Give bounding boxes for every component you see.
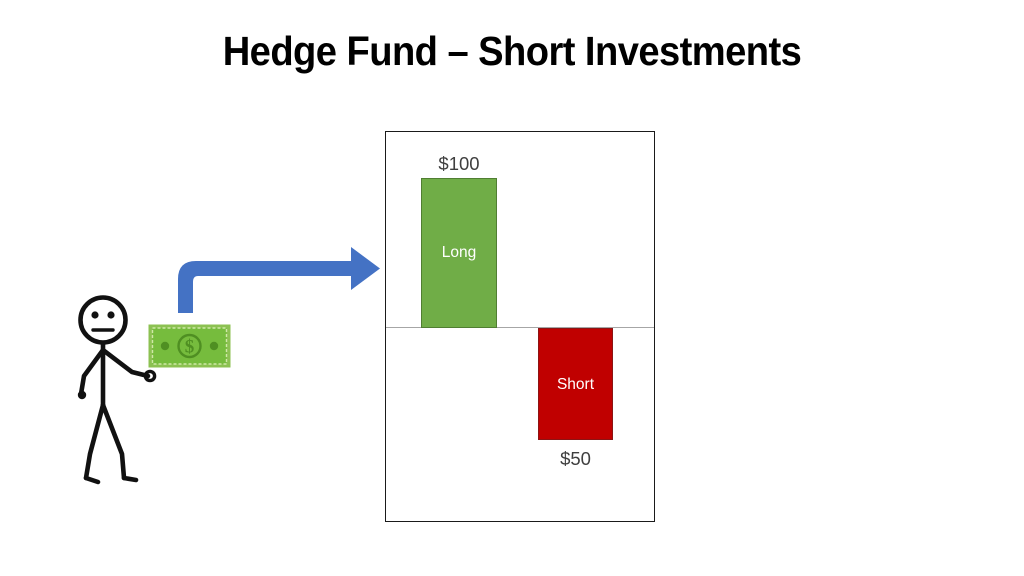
slide-canvas: Hedge Fund – Short Investments (0, 0, 1024, 576)
capital-flow-arrow (168, 243, 383, 315)
bill-dot-right (210, 342, 218, 350)
arrow-shape (178, 247, 380, 313)
dollar-sign-glyph: $ (185, 337, 195, 358)
long-short-bar-chart: $100 Long Short $50 (385, 131, 655, 522)
bar-long[interactable]: Long (421, 178, 497, 328)
stick-figure-eye-right (107, 311, 114, 318)
long-value-label: $100 (421, 153, 497, 175)
dollar-bill-icon: $ (148, 324, 231, 368)
money-icon: $ (148, 324, 231, 368)
short-value-label: $50 (538, 448, 613, 470)
chart-plot-area: $100 Long Short $50 (386, 132, 654, 521)
page-title: Hedge Fund – Short Investments (36, 26, 988, 76)
bar-short[interactable]: Short (538, 328, 613, 440)
bar-long-label: Long (422, 244, 496, 262)
stick-figure-eye-left (91, 311, 98, 318)
elbow-arrow-icon (168, 243, 383, 315)
bill-dot-left (161, 342, 169, 350)
stick-figure-hand-left (78, 391, 86, 399)
stick-figure-investor (62, 286, 177, 486)
stick-figure-icon (62, 286, 177, 486)
bar-short-label: Short (539, 376, 612, 394)
